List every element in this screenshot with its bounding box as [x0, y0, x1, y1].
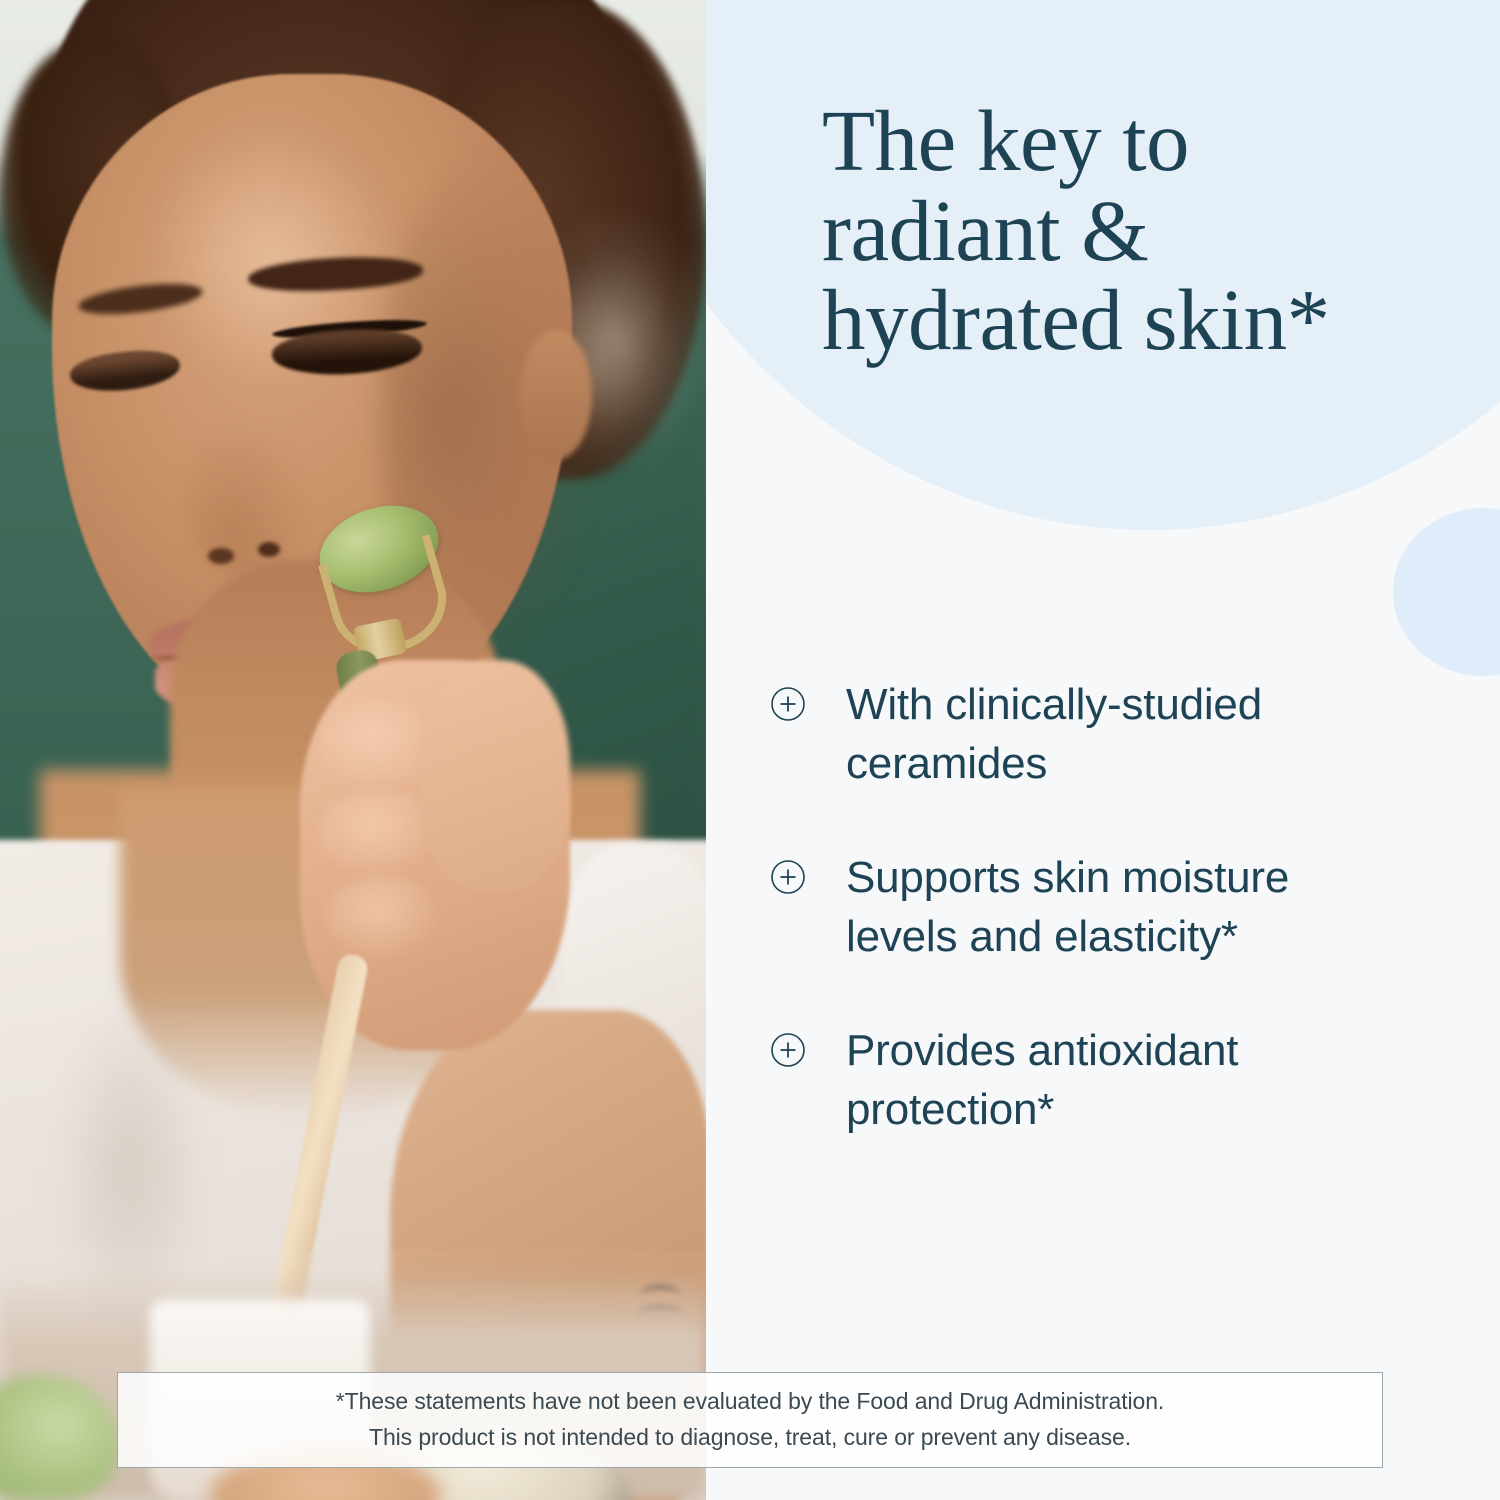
photo-nose [185, 420, 315, 580]
photo-thumb [420, 660, 570, 890]
photo-nostril-left [208, 548, 234, 564]
headline: The key to radiant & hydrated skin* [822, 96, 1462, 365]
product-benefits-graphic: The key to radiant & hydrated skin* With… [0, 0, 1500, 1500]
plus-circle-icon [770, 859, 806, 895]
photo-ear [520, 330, 592, 460]
plus-circle-icon [770, 686, 806, 722]
photo-knuckle [325, 875, 440, 960]
benefits-list: With clinically-studied ceramides Suppor… [770, 676, 1390, 1139]
hero-photo [0, 0, 706, 1500]
list-item: With clinically-studied ceramides [770, 676, 1390, 793]
list-item: Supports skin moisture levels and elasti… [770, 849, 1390, 966]
disclaimer-line-2: This product is not intended to diagnose… [369, 1420, 1131, 1456]
photo-nostril-right [258, 542, 280, 557]
plus-circle-icon [770, 1032, 806, 1068]
list-item: Provides antioxidant protection* [770, 1022, 1390, 1139]
benefit-label: Provides antioxidant protection* [846, 1022, 1366, 1139]
benefit-label: With clinically-studied ceramides [846, 676, 1366, 793]
blue-circle-accent [1393, 508, 1500, 676]
benefit-label: Supports skin moisture levels and elasti… [846, 849, 1366, 966]
disclaimer-line-1: *These statements have not been evaluate… [336, 1384, 1164, 1420]
fda-disclaimer-box: *These statements have not been evaluate… [117, 1372, 1383, 1468]
